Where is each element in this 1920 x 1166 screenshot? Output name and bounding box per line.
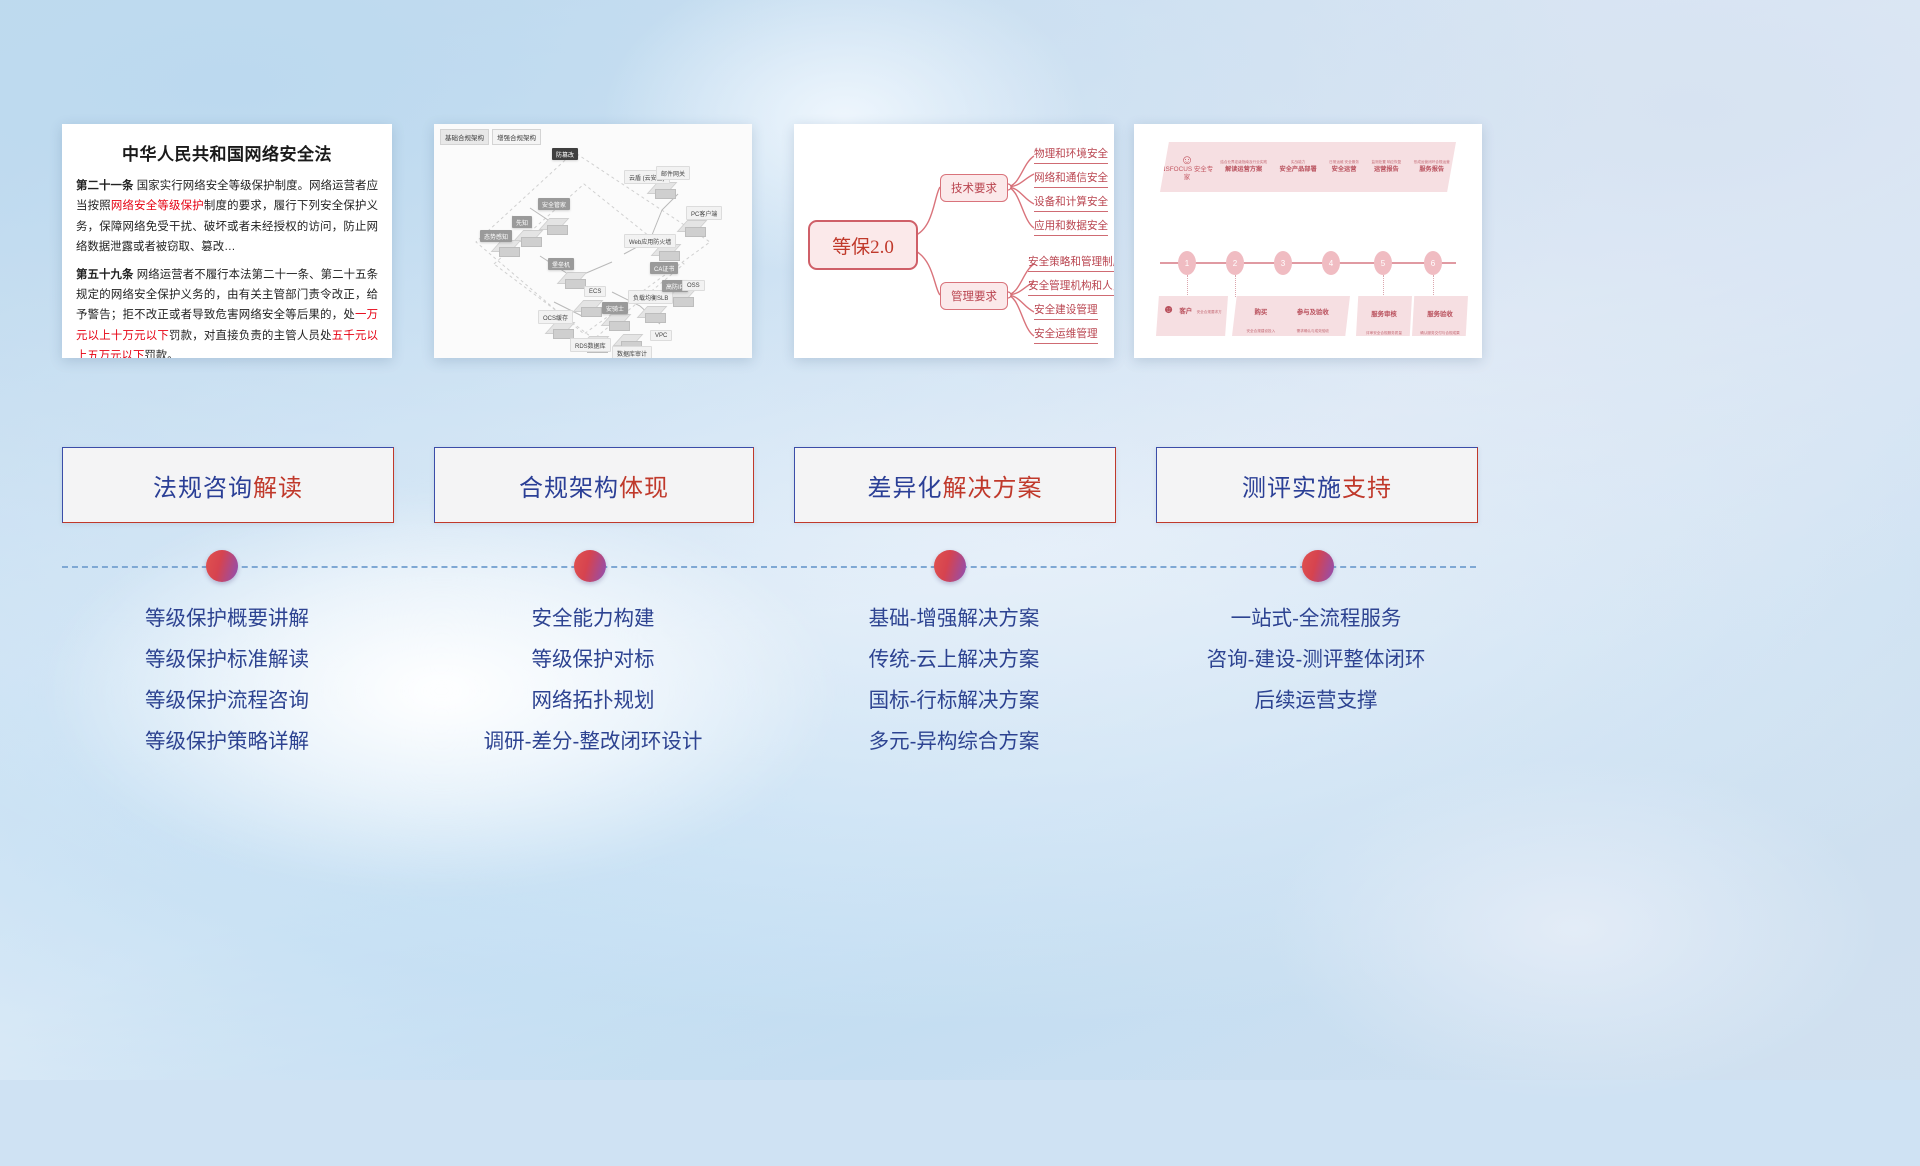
- mindmap-leaf-policy: 安全策略和管理制度: [1028, 254, 1114, 272]
- list-item: 等级保护策略详解: [62, 721, 392, 762]
- nsfocus-footer-purchase: 购买 安全合规建设投入: [1240, 301, 1282, 336]
- arch-node-anqishi: 安骑士: [602, 302, 628, 314]
- list-item: 一站式-全流程服务: [1156, 598, 1476, 639]
- law-article-59-post: 罚款。: [144, 350, 178, 358]
- card-mindmap[interactable]: 等保2.0 技术要求 管理要求 物理和环境安全 网络和通信安全 设备和计算安全 …: [794, 124, 1114, 358]
- nsfocus-footer-acceptance-sub: 确认服务交付与合规成果: [1420, 331, 1460, 335]
- arch-cube-situation-awareness: [496, 240, 522, 257]
- list-item: 安全能力构建: [434, 598, 752, 639]
- nsfocus-step-2-top: 实战能力: [1280, 160, 1317, 165]
- nsfocus-step-3-top: 日常运维 安全服务: [1329, 160, 1359, 165]
- nsfocus-leader-1: [1187, 275, 1188, 297]
- timeline-node-4[interactable]: [1302, 550, 1334, 582]
- law-article-21-highlight: 网络安全等级保护: [111, 200, 204, 212]
- banner-2-text: 合规架构体现: [519, 468, 669, 503]
- arch-cube-ocs: [550, 322, 576, 339]
- law-article-21-label: 第二十一条: [76, 180, 133, 192]
- mindmap-branch-technical: 技术要求: [940, 174, 1008, 202]
- nsfocus-axis: [1160, 262, 1456, 264]
- arch-node-mail-gateway: 邮件网关: [656, 166, 690, 180]
- architecture-canvas: 防篡改 安全管家 先知 态势感知 堡垒机 安骑士 OCS缓存 ECS RDS数据…: [434, 124, 752, 358]
- banner-2-blue: 合规架构: [519, 475, 619, 502]
- list-item: 等级保护流程咨询: [62, 680, 392, 721]
- arch-cube-slb: [642, 306, 668, 323]
- nsfocus-dot-1: 1: [1178, 251, 1196, 275]
- nsfocus-step-5-top: 形成运营闭环合规运营: [1414, 160, 1450, 165]
- law-article-59-label: 第五十九条: [76, 269, 133, 281]
- law-article-59-mid: 罚款，对直接负责的主管人员处: [169, 330, 332, 342]
- client-person-icon: ☻: [1162, 302, 1175, 316]
- mindmap-leaf-org: 安全管理机构和人员: [1028, 278, 1114, 296]
- nsfocus-footer-purchase-sub: 安全合规建设投入: [1246, 329, 1275, 333]
- nsfocus-footer-participate: 参与及验收 需求确认与成效验收: [1282, 301, 1344, 336]
- mindmap-leaf-application: 应用和数据安全: [1034, 218, 1108, 236]
- card-cloud-architecture[interactable]: 基础合规架构 增强合规架构: [434, 124, 752, 358]
- architecture-diagram: 基础合规架构 增强合规架构: [434, 124, 752, 358]
- nsfocus-footer-acceptance-label: 服务验收: [1427, 311, 1453, 318]
- arch-cube-mail-gateway: [652, 182, 678, 199]
- list-item: 基础-增强解决方案: [794, 598, 1114, 639]
- nsfocus-footer-client-sub: 安全合规要求方: [1197, 310, 1222, 314]
- nsfocus-footer-purchase-group: 购买 安全合规建设投入 参与及验收 需求确认与成效验收: [1232, 296, 1350, 336]
- banner-regulation-consulting[interactable]: 法规咨询解读: [62, 447, 394, 523]
- nsfocus-banner: ☺ NSFOCUS 安全专家 结合业界定级指南及行业实践 解读运营方案 实战能力…: [1160, 142, 1456, 192]
- timeline-node-1[interactable]: [206, 550, 238, 582]
- arch-node-xianzhi: 先知: [512, 216, 532, 228]
- arch-node-waf: Web应用防火墙: [624, 234, 676, 248]
- nsfocus-step-1: 结合业界定级指南及行业实践 解读运营方案: [1220, 160, 1267, 174]
- list-item: 后续运营支撑: [1156, 680, 1476, 721]
- arch-node-situation-awareness: 态势感知: [480, 230, 512, 242]
- banner-1-red: 解读: [253, 475, 303, 502]
- mindmap-branch-management: 管理要求: [940, 282, 1008, 310]
- arch-node-slb: 负载均衡SLB: [628, 290, 673, 304]
- list-item: 网络拓扑规划: [434, 680, 752, 721]
- timeline: [0, 538, 1920, 598]
- mindmap-leaf-construction: 安全建设管理: [1034, 302, 1098, 320]
- mindmap-leaf-physical: 物理和环境安全: [1034, 146, 1108, 164]
- arch-cube-ecs: [578, 300, 604, 317]
- banner-evaluation-support[interactable]: 测评实施支持: [1156, 447, 1478, 523]
- mindmap-leaf-operation: 安全运维管理: [1034, 326, 1098, 344]
- timeline-node-2[interactable]: [574, 550, 606, 582]
- banner-differentiated-solution[interactable]: 差异化解决方案: [794, 447, 1116, 523]
- nsfocus-dot-4: 4: [1322, 251, 1340, 275]
- nsfocus-leader-3: [1383, 275, 1384, 297]
- arch-node-ecs: ECS: [584, 286, 606, 297]
- nsfocus-dot-2: 2: [1226, 251, 1244, 275]
- nsfocus-step-5-bottom: 服务报告: [1414, 165, 1450, 174]
- banner-3-blue: 差异化: [868, 475, 943, 502]
- banner-compliance-architecture[interactable]: 合规架构体现: [434, 447, 754, 523]
- detail-list-row: 等级保护概要讲解 等级保护标准解读 等级保护流程咨询 等级保护策略详解 安全能力…: [0, 598, 1920, 818]
- arch-cube-anqishi: [606, 314, 632, 331]
- thumbnail-card-row: 中华人民共和国网络安全法 第二十一条 国家实行网络安全等级保护制度。网络运营者应…: [0, 124, 1920, 364]
- arch-node-rds: RDS数据库: [570, 338, 611, 352]
- detail-column-4: 一站式-全流程服务 咨询-建设-测评整体闭环 后续运营支撑: [1156, 598, 1476, 721]
- list-item: 等级保护对标: [434, 639, 752, 680]
- law-article-21: 第二十一条 国家实行网络安全等级保护制度。网络运营者应当按照网络安全等级保护制度…: [76, 176, 378, 258]
- arch-node-oss: OSS: [682, 280, 705, 291]
- list-item: 等级保护标准解读: [62, 639, 392, 680]
- nsfocus-leader-2: [1235, 275, 1236, 297]
- card-cybersecurity-law[interactable]: 中华人民共和国网络安全法 第二十一条 国家实行网络安全等级保护制度。网络运营者应…: [62, 124, 392, 358]
- banner-row: 法规咨询解读 合规架构体现 差异化解决方案 测评实施支持: [0, 447, 1920, 521]
- arch-node-anti-tamper: 防篡改: [552, 148, 578, 160]
- arch-node-vpc: VPC: [650, 330, 672, 341]
- nsfocus-footer-review-label: 服务审核: [1371, 311, 1397, 318]
- nsfocus-step-2-bottom: 安全产品部署: [1280, 165, 1317, 174]
- arch-cube-pc-client: [682, 220, 708, 237]
- nsfocus-step-1-bottom: 解读运营方案: [1220, 165, 1267, 174]
- detail-column-2: 安全能力构建 等级保护对标 网络拓扑规划 调研-差分-整改闭环设计: [434, 598, 752, 762]
- list-item: 传统-云上解决方案: [794, 639, 1114, 680]
- detail-column-1: 等级保护概要讲解 等级保护标准解读 等级保护流程咨询 等级保护策略详解: [62, 598, 392, 762]
- nsfocus-footer-participate-label: 参与及验收: [1297, 309, 1329, 316]
- slide-stage: 中华人民共和国网络安全法 第二十一条 国家实行网络安全等级保护制度。网络运营者应…: [0, 0, 1920, 1080]
- mindmap-diagram: 等保2.0 技术要求 管理要求 物理和环境安全 网络和通信安全 设备和计算安全 …: [794, 124, 1114, 358]
- nsfocus-step-2: 实战能力 安全产品部署: [1280, 160, 1317, 174]
- arch-cube-security-manager: [544, 218, 570, 235]
- nsfocus-leader-4: [1433, 275, 1434, 297]
- nsfocus-step-4-bottom: 运营报告: [1371, 165, 1401, 174]
- arch-node-bastion-host: 堡垒机: [548, 258, 574, 270]
- list-item: 等级保护概要讲解: [62, 598, 392, 639]
- arch-node-ocs-cache: OCS缓存: [538, 310, 573, 324]
- nsfocus-footer-review-sub: 评审安全合规服务质量: [1366, 331, 1402, 335]
- nsfocus-step-list: 结合业界定级指南及行业实践 解读运营方案 实战能力 安全产品部署 日常运维 安全…: [1214, 160, 1456, 174]
- nsfocus-step-4-top: 监测处置 响应恢复: [1371, 160, 1401, 165]
- nsfocus-diagram: ☺ NSFOCUS 安全专家 结合业界定级指南及行业实践 解读运营方案 实战能力…: [1134, 124, 1482, 358]
- law-article-59: 第五十九条 网络运营者不履行本法第二十一条、第二十五条规定的网络安全保护义务的，…: [76, 265, 378, 358]
- arch-node-ca-cert: CA证书: [650, 262, 678, 274]
- nsfocus-step-1-top: 结合业界定级指南及行业实践: [1220, 160, 1267, 165]
- nsfocus-step-4: 监测处置 响应恢复 运营报告: [1371, 160, 1401, 174]
- nsfocus-footer-client-label: 客户: [1179, 308, 1192, 315]
- arch-node-security-manager: 安全管家: [538, 198, 570, 210]
- nsfocus-dot-6: 6: [1424, 251, 1442, 275]
- timeline-node-3[interactable]: [934, 550, 966, 582]
- person-star-icon: ☺: [1160, 153, 1214, 166]
- nsfocus-footer-client: ☻ 客户 安全合规要求方: [1156, 296, 1228, 336]
- banner-1-blue: 法规咨询: [153, 475, 253, 502]
- banner-2-red: 体现: [619, 475, 669, 502]
- banner-3-red: 解决方案: [943, 475, 1043, 502]
- nsfocus-dot-3: 3: [1274, 251, 1292, 275]
- nsfocus-footer-acceptance: 服务验收 确认服务交付与合规成果: [1412, 296, 1468, 336]
- banner-4-text: 测评实施支持: [1242, 468, 1392, 503]
- detail-column-3: 基础-增强解决方案 传统-云上解决方案 国标-行标解决方案 多元-异构综合方案: [794, 598, 1114, 762]
- banner-1-text: 法规咨询解读: [153, 468, 303, 503]
- list-item: 多元-异构综合方案: [794, 721, 1114, 762]
- law-document: 中华人民共和国网络安全法 第二十一条 国家实行网络安全等级保护制度。网络运营者应…: [62, 124, 392, 358]
- mindmap-leaf-network: 网络和通信安全: [1034, 170, 1108, 188]
- arch-node-pc-client: PC客户端: [686, 206, 722, 220]
- mindmap-leaf-device: 设备和计算安全: [1034, 194, 1108, 212]
- card-nsfocus-timeline[interactable]: ☺ NSFOCUS 安全专家 结合业界定级指南及行业实践 解读运营方案 实战能力…: [1134, 124, 1482, 358]
- arch-cube-oss: [670, 290, 696, 307]
- nsfocus-dot-5: 5: [1374, 251, 1392, 275]
- nsfocus-step-3-bottom: 安全运营: [1329, 165, 1359, 174]
- nsfocus-footer-review: 服务审核 评审安全合规服务质量: [1356, 296, 1412, 336]
- nsfocus-logo-top: NSFOCUS: [1161, 166, 1192, 173]
- banner-3-text: 差异化解决方案: [868, 468, 1043, 503]
- nsfocus-step-5: 形成运营闭环合规运营 服务报告: [1414, 160, 1450, 174]
- nsfocus-step-3: 日常运维 安全服务 安全运营: [1329, 160, 1359, 174]
- list-item: 咨询-建设-测评整体闭环: [1156, 639, 1476, 680]
- list-item: 调研-差分-整改闭环设计: [434, 721, 752, 762]
- list-item: 国标-行标解决方案: [794, 680, 1114, 721]
- mindmap-root-node: 等保2.0: [808, 220, 918, 270]
- nsfocus-footer-purchase-label: 购买: [1254, 309, 1267, 316]
- law-title: 中华人民共和国网络安全法: [76, 140, 378, 165]
- nsfocus-logo: ☺ NSFOCUS 安全专家: [1160, 153, 1214, 182]
- arch-node-db-audit: 数据库审计: [612, 346, 652, 358]
- banner-4-red: 支持: [1342, 475, 1392, 502]
- banner-4-blue: 测评实施: [1242, 475, 1342, 502]
- nsfocus-footer-participate-sub: 需求确认与成效验收: [1297, 329, 1329, 333]
- timeline-line: [62, 566, 1476, 568]
